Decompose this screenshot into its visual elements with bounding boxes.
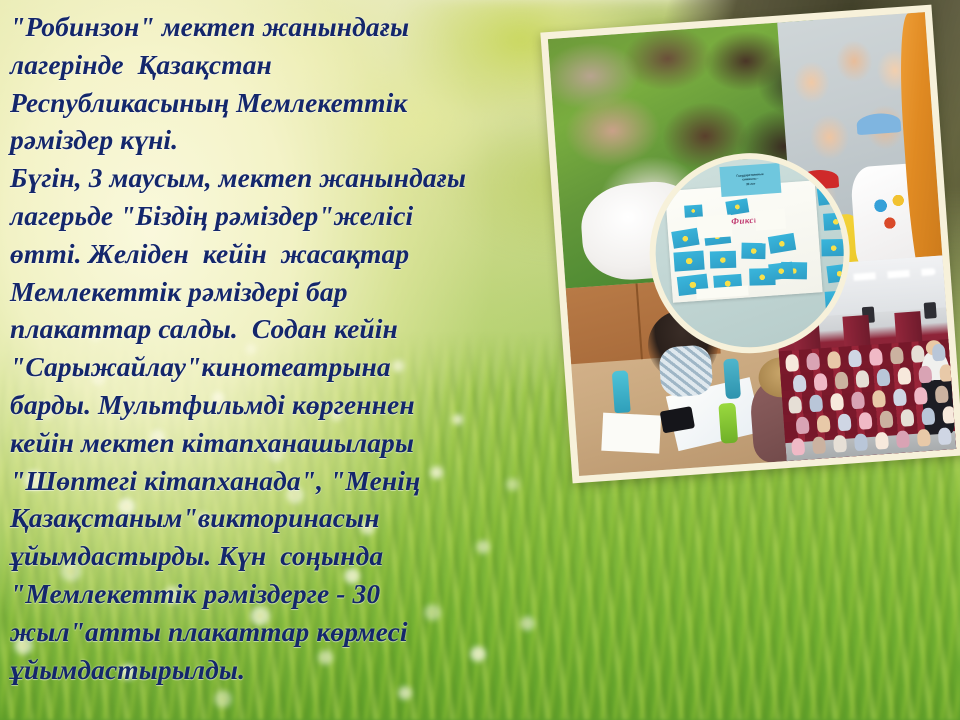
text-line: өтті. Желіден кейін жасақтар — [10, 235, 538, 273]
audience-member — [876, 369, 890, 387]
audience-member — [796, 416, 810, 434]
kazakhstan-flag-drawing — [725, 198, 749, 215]
audience-member — [809, 394, 823, 412]
text-line: плакаттар салды. Содан кейін — [10, 310, 538, 348]
text-line: Қазақстаным"викторинасын — [10, 499, 538, 537]
text-line: рәміздер күні. — [10, 121, 538, 159]
audience-member — [897, 367, 911, 385]
audience-member — [837, 413, 851, 431]
text-line: "Шөптегі кітапханада", "Менің — [10, 462, 538, 500]
drawing-paper-small — [601, 413, 661, 454]
audience-member — [855, 370, 869, 388]
text-line: "Мемлекеттік рәміздерге - 30 — [10, 575, 538, 613]
text-line: кейін мектеп кітапханашылары — [10, 424, 538, 462]
photo-collage-inner: Фиксики Государственные символы - 30 лет — [548, 12, 956, 476]
audience-member — [851, 391, 865, 409]
audience-member — [896, 430, 910, 448]
kazakhstan-flag-drawing — [821, 239, 845, 256]
audience-member — [869, 348, 883, 366]
text-line: барды. Мультфильмді көргеннен — [10, 386, 538, 424]
audience-member — [900, 409, 914, 427]
text-line: жыл"атты плакаттар көрмесі — [10, 613, 538, 651]
kazakhstan-flag-drawing — [741, 243, 765, 259]
text-line: Мемлекеттік рәміздері бар — [10, 273, 538, 311]
poster-blue-sign: Государственные символы - 30 лет — [719, 163, 781, 197]
text-line: лагерінде Қазақстан — [10, 46, 538, 84]
audience-member — [921, 407, 935, 425]
audience-member — [938, 427, 952, 445]
audience-member — [833, 435, 847, 453]
blue-water-bottle — [612, 370, 631, 413]
text-line: "Сарыжайлау"кинотеатрына — [10, 348, 538, 386]
audience-member — [848, 349, 862, 367]
kazakhstan-flag-drawing — [710, 251, 736, 269]
text-line: "Робинзон" мектеп жанындағы — [10, 8, 538, 46]
slide-text-block: "Робинзон" мектеп жанындағылагерінде Қаз… — [10, 8, 538, 688]
audience-member — [942, 406, 956, 424]
text-line: Бүгін, 3 маусым, мектеп жанындағы — [10, 159, 538, 197]
audience-member — [890, 346, 904, 364]
audience-member — [788, 396, 802, 414]
audience-member — [806, 352, 820, 370]
audience-member — [791, 438, 805, 456]
text-line: Республикасының Мемлекеттік — [10, 84, 538, 122]
audience-member — [932, 343, 946, 361]
photo-collage-frame: Фиксики Государственные символы - 30 лет — [540, 5, 960, 484]
kazakhstan-flag-drawing — [673, 250, 704, 271]
audience-member — [879, 410, 893, 428]
kazakhstan-flag-drawing — [817, 186, 843, 206]
kazakhstan-flag-drawing — [825, 290, 850, 309]
text-line: ұйымдастырылды. — [10, 651, 538, 689]
audience-member — [939, 364, 953, 382]
kazakhstan-flag-drawing — [671, 228, 699, 249]
kazakhstan-flag-drawing — [768, 233, 796, 254]
kazakhstan-flag-drawing — [768, 262, 794, 281]
drawing-sheet — [755, 209, 786, 231]
audience-member — [918, 366, 932, 384]
audience-member — [858, 412, 872, 430]
blue-cap — [856, 112, 901, 135]
audience-member — [785, 354, 799, 372]
drawing-sheet — [697, 214, 732, 238]
poster-board: Фиксики — [665, 180, 823, 302]
audience-member — [893, 388, 907, 406]
teal-water-bottle — [723, 358, 741, 399]
audience-member — [914, 387, 928, 405]
speaker-right — [924, 302, 937, 319]
sign-line-3: 30 лет — [746, 182, 756, 186]
green-water-bottle — [718, 403, 738, 444]
audience-member — [834, 372, 848, 390]
presentation-slide: "Робинзон" мектеп жанындағылагерінде Қаз… — [0, 0, 960, 720]
text-line: лагерьде "Біздің рәміздер"желісі — [10, 197, 538, 235]
audience-member — [812, 436, 826, 454]
audience-member — [872, 390, 886, 408]
audience-member — [875, 432, 889, 450]
audience-member — [813, 373, 827, 391]
audience-member — [827, 351, 841, 369]
audience-member — [830, 393, 844, 411]
audience-member — [935, 385, 949, 403]
audience-member — [917, 429, 931, 447]
audience-member — [854, 433, 868, 451]
audience-member — [911, 345, 925, 363]
audience-member — [816, 415, 830, 433]
audience-member — [793, 375, 807, 393]
text-line: ұйымдастырды. Күн соңында — [10, 537, 538, 575]
